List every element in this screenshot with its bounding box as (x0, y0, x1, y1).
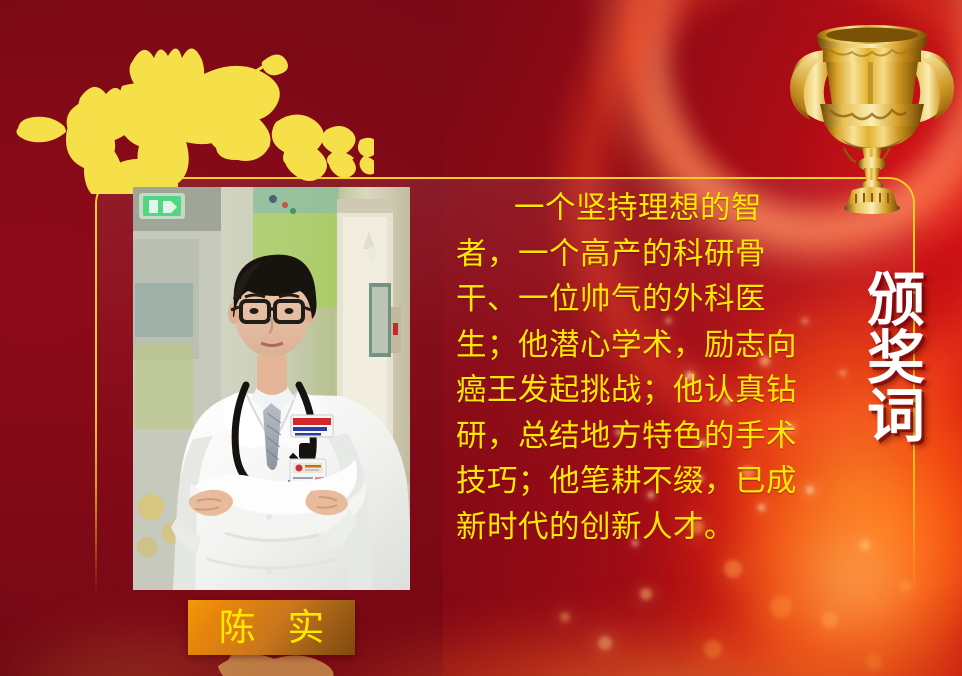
bokeh-dot (598, 636, 612, 650)
bokeh-dot (866, 654, 882, 670)
trophy-icon (782, 2, 962, 214)
bokeh-dot (560, 612, 570, 622)
bokeh-dot (770, 596, 792, 618)
citation-text: 一个坚持理想的智者，一个高产的科研骨干、一位帅气的外科医生；他潜心学术，励志向癌… (456, 186, 808, 550)
bokeh-dot (704, 640, 722, 658)
bokeh-dot (822, 612, 838, 628)
floral-ornament-icon (14, 4, 374, 194)
award-citation-slide: 一个坚持理想的智者，一个高产的科研骨干、一位帅气的外科医生；他潜心学术，励志向癌… (0, 0, 962, 676)
vertical-title-award-citation: 颁奖词 (856, 256, 922, 456)
nameplate: 陈 实 (188, 600, 355, 655)
doctor-portrait-photo (133, 187, 410, 590)
nameplate-text: 陈 实 (209, 609, 335, 646)
